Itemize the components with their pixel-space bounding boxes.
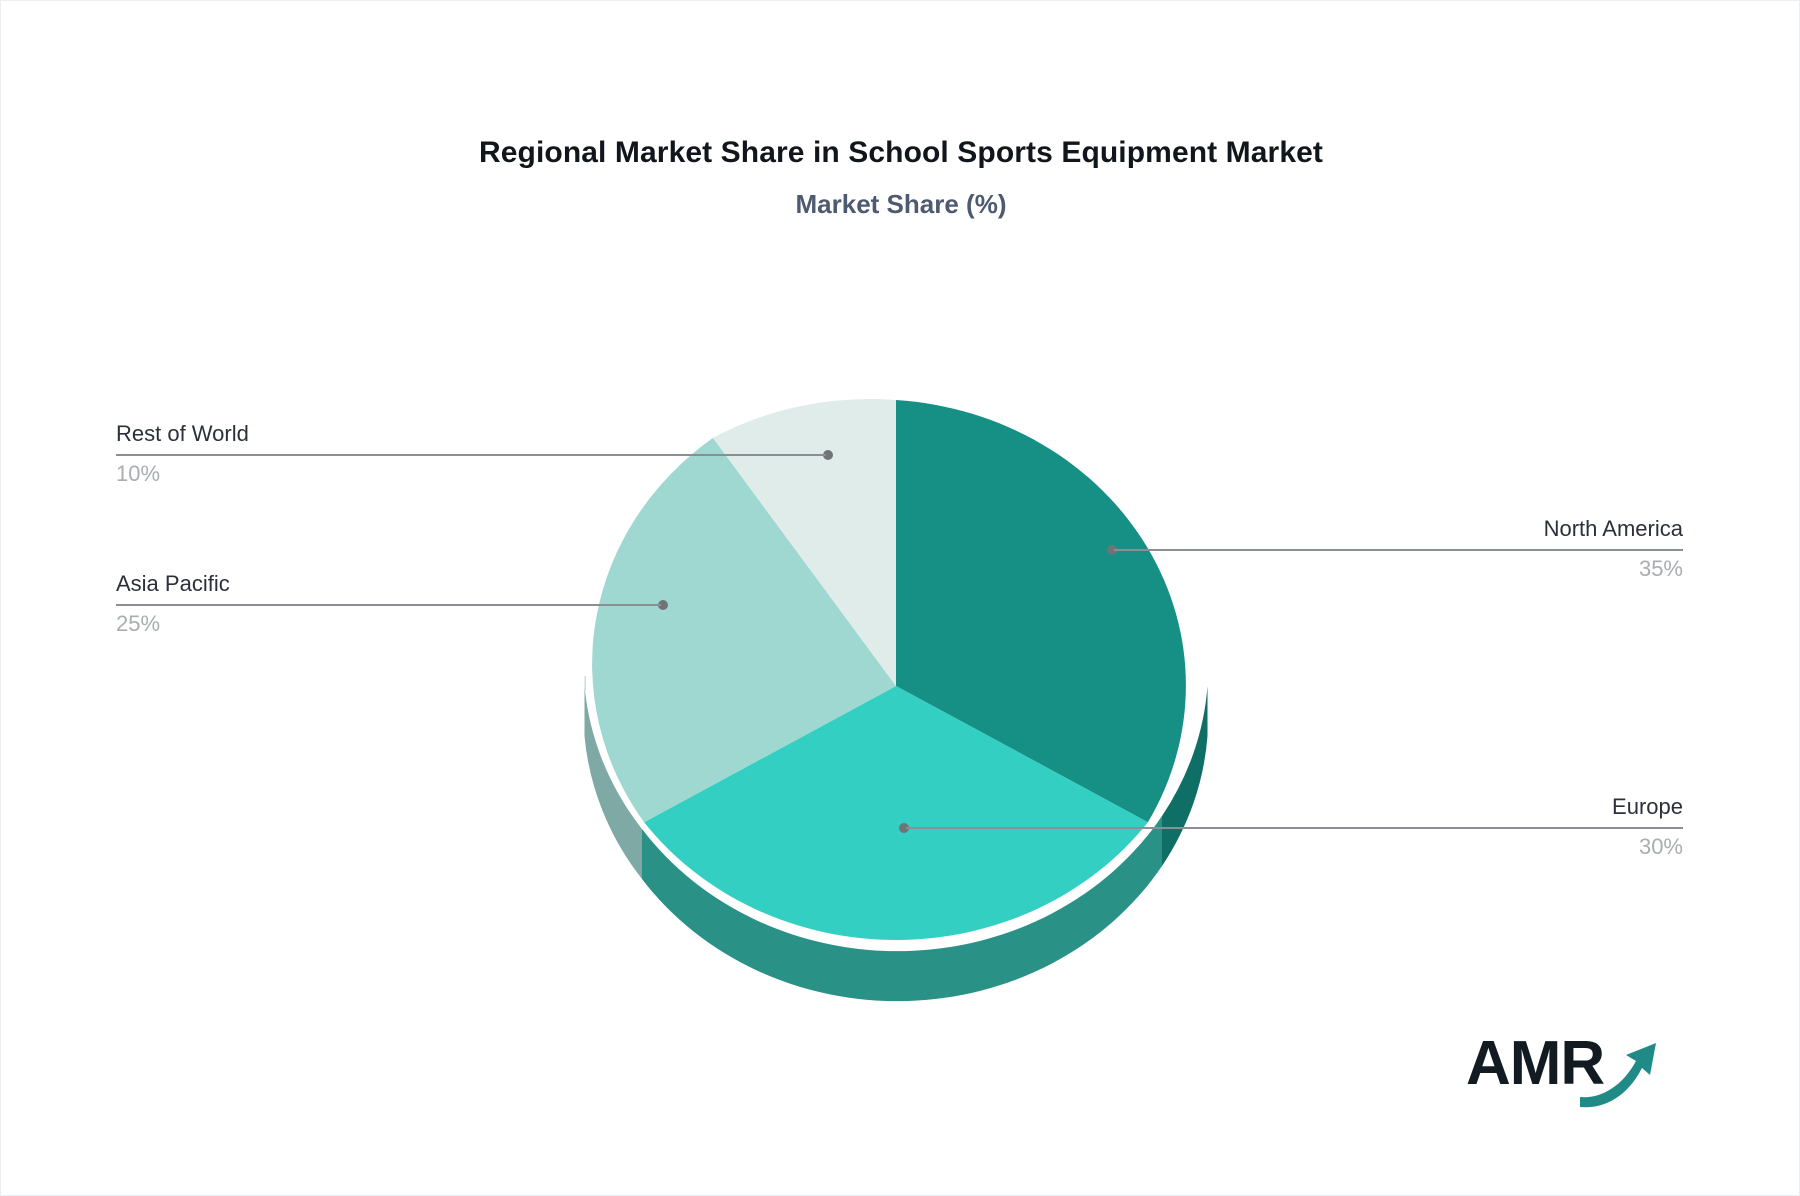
callout-value-label: 10% <box>116 459 826 489</box>
amr-logo: AMR <box>1466 1021 1666 1121</box>
callout-north-america: North America 35% <box>1114 514 1683 584</box>
callout-asia-pacific: Asia Pacific 25% <box>116 569 661 639</box>
callout-value-label: 35% <box>1114 554 1683 584</box>
chart-canvas: Regional Market Share in School Sports E… <box>0 0 1800 1196</box>
callout-europe: Europe 30% <box>906 792 1683 862</box>
callout-rest-of-world: Rest of World 10% <box>116 419 826 489</box>
growth-arrow-icon <box>1574 1021 1666 1113</box>
callout-value-label: 25% <box>116 609 661 639</box>
callout-divider <box>1114 549 1683 551</box>
callout-category-label: Asia Pacific <box>116 569 661 599</box>
callout-divider <box>116 604 661 606</box>
callout-category-label: Rest of World <box>116 419 826 449</box>
callout-category-label: North America <box>1114 514 1683 544</box>
callout-category-label: Europe <box>906 792 1683 822</box>
callout-value-label: 30% <box>906 832 1683 862</box>
callout-divider <box>906 827 1683 829</box>
callout-divider <box>116 454 826 456</box>
